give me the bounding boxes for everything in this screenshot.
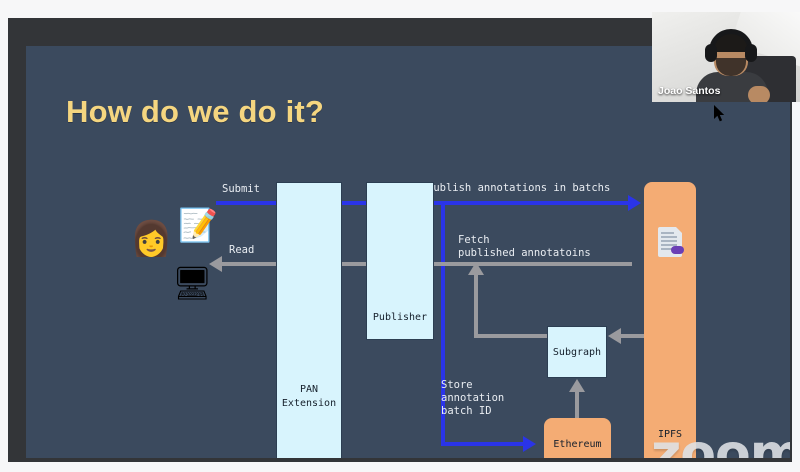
- zoom-watermark: zoom: [651, 424, 790, 458]
- read-arrowhead-icon: [209, 256, 222, 272]
- node-pan-extension-label: PAN Extension: [277, 383, 341, 411]
- mouse-cursor-icon: [714, 105, 726, 123]
- store-arrowhead-icon: [523, 436, 536, 452]
- publish-arrowhead-icon: [628, 195, 641, 211]
- memo-icon: 📝: [178, 209, 218, 241]
- headphone-cup-right: [745, 44, 757, 62]
- monitor-icon: 🖥: [172, 267, 213, 299]
- subgraph-to-publisher-vertical: [474, 274, 478, 336]
- node-subgraph[interactable]: Subgraph: [547, 326, 607, 378]
- presentation-slide: How do we do it? 👩 📝 🖥 Submit Publish an…: [26, 46, 790, 458]
- ipfs-to-subgraph-arrowhead-icon: [608, 328, 621, 344]
- video-person-hand: [748, 86, 770, 102]
- node-ipfs[interactable]: IPFS: [644, 182, 696, 458]
- participant-video-tile[interactable]: Joao Santos: [652, 12, 800, 102]
- headphone-cup-left: [705, 44, 717, 62]
- node-ethereum[interactable]: Ethereum: [544, 418, 611, 458]
- page-title: How do we do it?: [66, 94, 324, 130]
- submit-edge-label: Submit: [222, 183, 260, 196]
- subgraph-up-arrowhead-icon: [468, 262, 484, 275]
- read-edge-label: Read: [229, 244, 254, 257]
- store-edge-label: Store annotation batch ID: [441, 379, 504, 418]
- publish-edge-label: Publish annotations in batchs: [427, 182, 610, 195]
- store-edge-horizontal: [441, 442, 526, 446]
- node-subgraph-label: Subgraph: [548, 346, 606, 360]
- node-publisher-label: Publisher: [367, 311, 433, 325]
- ethereum-to-subgraph-line: [575, 391, 579, 421]
- ethereum-to-subgraph-arrowhead-icon: [569, 379, 585, 392]
- user-person-icon: 👩: [130, 222, 172, 256]
- node-ethereum-label: Ethereum: [544, 438, 611, 452]
- node-pan-extension[interactable]: PAN Extension: [276, 182, 342, 458]
- node-publisher[interactable]: Publisher: [366, 182, 434, 340]
- document-icon: [658, 227, 684, 259]
- ipfs-to-subgraph-line: [621, 334, 646, 338]
- fetch-edge-label: Fetch published annotatoins: [458, 234, 591, 260]
- screen-root: How do we do it? 👩 📝 🖥 Submit Publish an…: [0, 0, 800, 472]
- participant-name-label: Joao Santos: [658, 85, 720, 97]
- subgraph-to-publisher-horizontal: [474, 334, 549, 338]
